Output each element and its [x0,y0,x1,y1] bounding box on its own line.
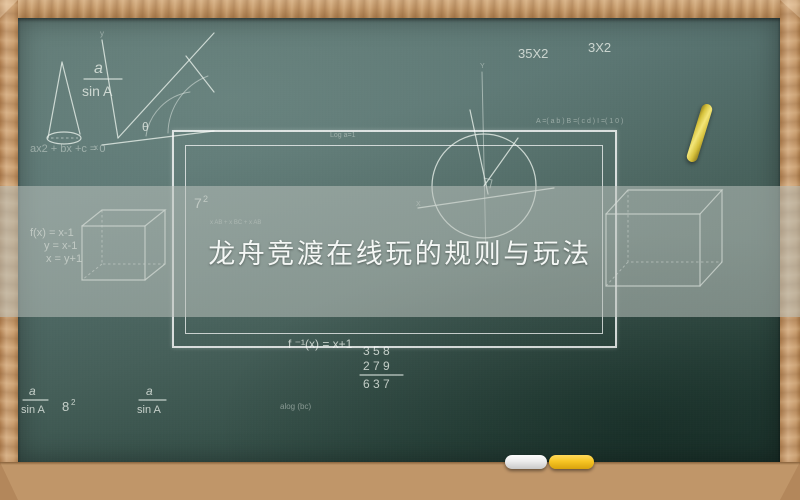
sine-rule-fraction-bottom-mid: a sin A [137,384,166,416]
page-title: 龙舟竞渡在线玩的规则与玩法 [0,186,800,317]
label-35x2: 35X2 [518,46,548,61]
svg-text:θ: θ [142,120,149,134]
frame-bottom-rail-chalk-tray [0,462,800,500]
frame-top-rail [0,0,800,18]
svg-text:8: 8 [62,399,69,414]
svg-text:a: a [94,60,103,77]
svg-text:y: y [100,29,104,38]
frame-corner-top-left [0,0,18,18]
svg-text:a: a [29,384,36,398]
svg-text:6 3 7: 6 3 7 [363,377,390,391]
svg-text:a: a [146,384,153,398]
cone-drawing [47,62,81,144]
svg-text:sin A: sin A [21,404,46,416]
long-multiplication: 3 5 8 2 7 9 6 3 7 [360,344,403,391]
svg-text:2: 2 [71,398,76,407]
frame-corner-bottom-right [780,462,800,500]
chalk-piece-white-icon [505,455,547,469]
sine-rule-fraction-bottom-left: a sin A [21,384,48,416]
svg-text:2 7 9: 2 7 9 [363,359,390,373]
chalk-piece-yellow-icon [549,455,594,469]
frame-corner-top-right [780,0,800,18]
screenshot-root: a sin A ax2 + bx +c = 0 y x θ f(x) = x- [0,0,800,500]
eight-squared: 8 2 [62,398,76,414]
frame-corner-bottom-left [0,462,18,500]
matrix-row: A =( a b ) B =( c d ) I =( 1 0 ) [536,118,623,125]
alog-label: alog (bc) [280,402,311,411]
label-3x2: 3X2 [588,40,611,55]
svg-text:sin A: sin A [82,83,113,99]
sine-rule-fraction-top: a sin A [82,60,122,99]
svg-text:sin A: sin A [137,404,162,416]
svg-text:x: x [94,143,98,152]
svg-text:Y: Y [480,63,485,70]
